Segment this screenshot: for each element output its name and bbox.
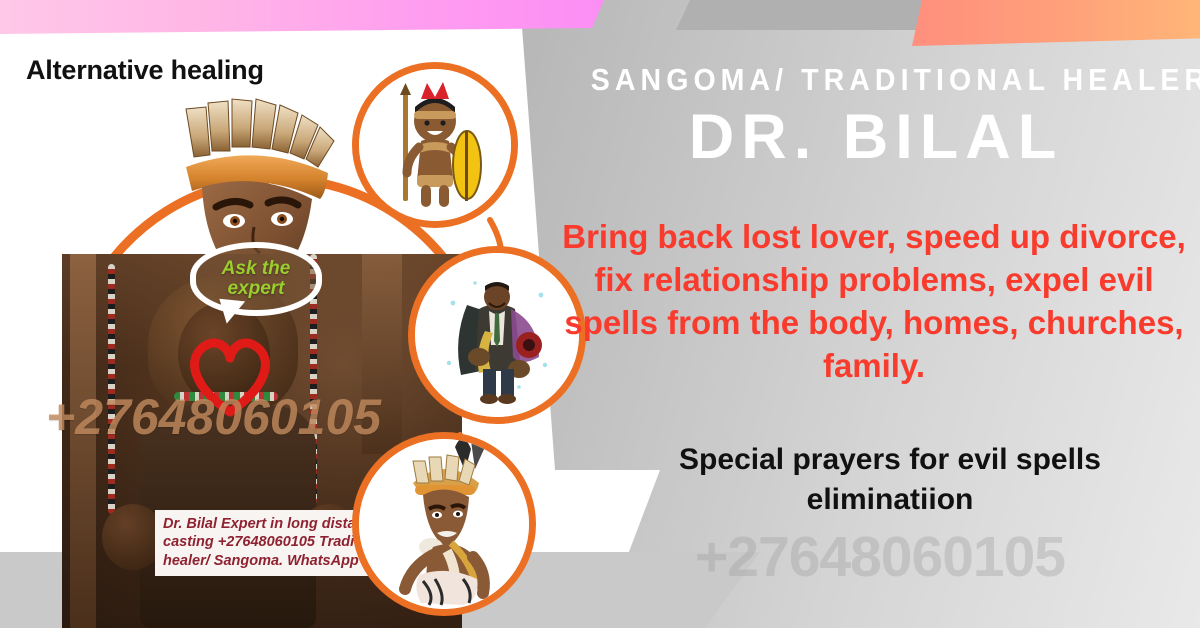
- speech-bubble-label: Ask the expert: [196, 259, 316, 299]
- special-prayers-text: Special prayers for evil spells eliminat…: [600, 440, 1180, 519]
- left-illustration-column: Alternative healing: [0, 0, 560, 628]
- right-text-column: SANGOMA/ TRADITIONAL HEALER DR. BILAL Br…: [540, 0, 1200, 628]
- speech-bubble: Ask the expert: [196, 248, 316, 310]
- services-description: Bring back lost lover, speed up divorce,…: [558, 216, 1190, 388]
- phone-number-watermark: +27648060105: [570, 524, 1190, 590]
- badge-zulu-warrior-cartoon: [352, 62, 518, 228]
- brand-name-dr-bilal: DR. BILAL: [566, 104, 1186, 170]
- photo-phone-watermark: +27648060105: [46, 388, 381, 446]
- poster-canvas: Alternative healing: [0, 0, 1200, 628]
- headline-alternative-healing: Alternative healing: [26, 55, 264, 86]
- badge-crouching-dancer-figure: [352, 432, 536, 616]
- kicker-sangoma-traditional-healer: SANGOMA/ TRADITIONAL HEALER: [591, 62, 1161, 98]
